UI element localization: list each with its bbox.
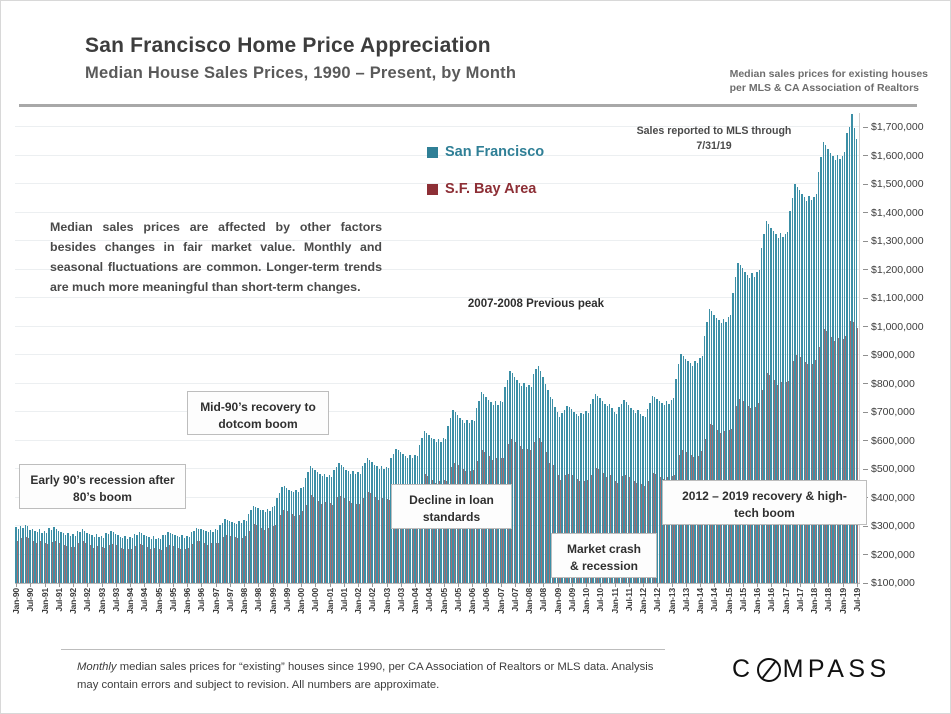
bar-san-francisco [227, 520, 228, 583]
bar-san-francisco [364, 463, 365, 583]
bar-san-francisco [341, 465, 342, 583]
bar-san-francisco [272, 507, 273, 583]
bar-san-francisco [117, 535, 118, 583]
bar-san-francisco [103, 538, 104, 583]
bar-san-francisco [98, 537, 99, 583]
bar-san-francisco [174, 535, 175, 583]
bar-san-francisco [702, 356, 703, 583]
logo-slashed-o-icon [757, 658, 781, 682]
bar-san-francisco [388, 468, 389, 583]
bar-san-francisco [37, 532, 38, 583]
bar-san-francisco [186, 536, 187, 583]
bar-san-francisco [789, 211, 790, 583]
bar-san-francisco [281, 487, 282, 583]
bar-san-francisco [141, 533, 142, 583]
bar-san-francisco [72, 534, 73, 583]
callout-2012-2019-recovery: 2012 – 2019 recovery & high-tech boom [662, 480, 867, 525]
bar-san-francisco [189, 537, 190, 583]
bar-san-francisco [343, 467, 344, 583]
y-axis-tick: $1,500,000 [863, 178, 951, 190]
bar-san-francisco [105, 533, 106, 583]
bar-san-francisco [241, 523, 242, 583]
bar-san-francisco [205, 531, 206, 583]
bar-san-francisco [181, 535, 182, 583]
bar-san-francisco [20, 526, 21, 583]
bar-san-francisco [766, 221, 767, 583]
bar-san-francisco [709, 309, 710, 583]
bar-san-francisco [58, 531, 59, 583]
bar-san-francisco [89, 534, 90, 583]
bar-san-francisco [314, 470, 315, 583]
bar-san-francisco [84, 531, 85, 583]
bar-san-francisco [540, 371, 541, 583]
x-axis-slot: Jul-19 [856, 586, 858, 642]
bar-san-francisco [167, 532, 168, 583]
callout-2007-2008-peak: 2007-2008 Previous peak [456, 297, 616, 312]
bar-san-francisco [704, 336, 705, 583]
bar-san-francisco [369, 460, 370, 583]
bar-san-francisco [108, 534, 109, 583]
bar-san-francisco [307, 472, 308, 583]
source-note-line2: per MLS & CA Association of Realtors [730, 81, 928, 95]
bar-san-francisco [759, 270, 760, 583]
header-divider [19, 104, 917, 107]
bar-san-francisco [535, 369, 536, 583]
bar-san-francisco [732, 293, 733, 583]
bar-san-francisco [67, 533, 68, 583]
bar-san-francisco [253, 506, 254, 583]
bar-san-francisco [811, 200, 812, 583]
bar-san-francisco [352, 471, 353, 583]
bar-san-francisco [331, 477, 332, 583]
page-subtitle: Median House Sales Prices, 1990 – Presen… [85, 64, 516, 83]
bar-san-francisco [293, 492, 294, 583]
bar-san-francisco [509, 371, 510, 583]
bar-san-francisco [787, 232, 788, 583]
y-axis-tick: $400,000 [863, 492, 951, 504]
y-axis-tick: $200,000 [863, 549, 951, 561]
bar-san-francisco [139, 532, 140, 583]
bar-san-francisco [780, 233, 781, 583]
bar-san-francisco [82, 529, 83, 583]
bar-san-francisco [514, 377, 515, 584]
footer-note: Monthly median sales prices for “existin… [77, 658, 677, 694]
bar-san-francisco [694, 361, 695, 583]
bar-san-francisco [685, 359, 686, 583]
bar-san-francisco [744, 272, 745, 583]
bar-san-francisco [236, 524, 237, 583]
bar-san-francisco [255, 507, 256, 583]
bar-san-francisco [160, 539, 161, 583]
bar-san-francisco [806, 201, 807, 583]
bar-san-francisco [713, 315, 714, 583]
y-axis-tick: $1,000,000 [863, 321, 951, 333]
bar-san-francisco [749, 278, 750, 583]
bar-san-francisco [754, 277, 755, 583]
bar-san-francisco [742, 268, 743, 583]
bar-san-francisco [692, 366, 693, 583]
bar-san-francisco [274, 506, 275, 583]
bar-san-francisco [215, 529, 216, 583]
bar-san-francisco [18, 529, 19, 583]
bar-san-francisco [687, 361, 688, 583]
bar-san-francisco [193, 531, 194, 583]
bar-san-francisco [75, 536, 76, 583]
bar-san-francisco [336, 467, 337, 583]
source-note: Median sales prices for existing houses … [730, 67, 928, 95]
bar-san-francisco [357, 472, 358, 583]
bar-san-francisco [338, 463, 339, 583]
bar-san-francisco [196, 528, 197, 583]
bar-san-francisco [110, 531, 111, 583]
bar-san-francisco [48, 528, 49, 583]
bar-san-francisco [65, 535, 66, 583]
callout-decline-loan-standards: Decline in loan standards [391, 484, 512, 529]
legend-swatch-san-francisco [427, 147, 438, 158]
bar-san-francisco [792, 198, 793, 583]
footer-note-emphasis: Monthly [77, 661, 117, 673]
chart-page: San Francisco Home Price Appreciation Me… [0, 0, 951, 714]
bar-san-francisco [711, 311, 712, 583]
bar-san-francisco [231, 522, 232, 583]
bar-san-francisco [120, 537, 121, 583]
y-axis-tick: $1,200,000 [863, 264, 951, 276]
bar-san-francisco [208, 532, 209, 583]
bar-san-francisco [721, 323, 722, 583]
bar-san-francisco [545, 384, 546, 583]
bar-san-francisco [267, 509, 268, 583]
bar-san-francisco [96, 534, 97, 583]
bar-san-francisco [177, 536, 178, 583]
bar-san-francisco [542, 377, 543, 583]
bar-san-francisco [191, 532, 192, 583]
bar-san-francisco [737, 263, 738, 583]
bar-san-francisco [248, 514, 249, 583]
bar-san-francisco [284, 486, 285, 583]
bar-san-francisco [716, 318, 717, 583]
bar-san-francisco [768, 224, 769, 583]
bar-san-francisco [203, 530, 204, 583]
bar-san-francisco [319, 474, 320, 583]
bar-san-francisco [329, 475, 330, 583]
callout-mid-90s-recovery: Mid-90’s recovery to dotcom boom [187, 391, 329, 435]
legend-item-sf-bay-area: S.F. Bay Area [427, 181, 544, 197]
bar-san-francisco [348, 471, 349, 583]
bar-san-francisco [127, 539, 128, 583]
bar-san-francisco [312, 468, 313, 583]
bar-san-francisco [184, 538, 185, 583]
bar-san-francisco [507, 380, 508, 583]
callout-early-90s-recession: Early 90’s recession after 80’s boom [19, 464, 186, 509]
bar-san-francisco [355, 474, 356, 583]
bar-san-francisco [362, 466, 363, 583]
bar-san-francisco [519, 383, 520, 583]
bar-san-francisco [310, 466, 311, 583]
bar-san-francisco [229, 521, 230, 583]
bar-san-francisco [262, 510, 263, 583]
legend-label-san-francisco: San Francisco [445, 144, 544, 160]
bar-san-francisco [265, 512, 266, 583]
bar-san-francisco [538, 366, 539, 583]
mls-reporting-note: Sales reported to MLS through 7/31/19 [629, 124, 799, 154]
bar-san-francisco [129, 537, 130, 583]
bar-san-francisco [34, 531, 35, 583]
logo-letters-mpass: MPASS [783, 655, 891, 684]
y-axis-tick: $600,000 [863, 435, 951, 447]
bar-san-francisco [260, 510, 261, 583]
bar-san-francisco [317, 472, 318, 583]
bar-san-francisco [775, 234, 776, 583]
bar-san-francisco [813, 197, 814, 583]
bar-san-francisco [46, 533, 47, 583]
x-axis-line [15, 583, 860, 584]
bar-san-francisco [238, 521, 239, 583]
bar-san-francisco [162, 535, 163, 583]
bar-san-francisco [295, 490, 296, 583]
bar-san-francisco [210, 530, 211, 583]
bar-san-francisco [523, 383, 524, 583]
bar-san-francisco [751, 273, 752, 583]
legend-label-sf-bay-area: S.F. Bay Area [445, 181, 536, 197]
bar-san-francisco [756, 272, 757, 583]
bar-san-francisco [706, 322, 707, 583]
y-axis-tick: $1,700,000 [863, 121, 951, 133]
logo-letter-c: C [732, 655, 755, 684]
bar-san-francisco [151, 539, 152, 583]
bar-san-francisco [678, 364, 679, 583]
bar-san-francisco [77, 531, 78, 583]
bar-san-francisco [155, 539, 156, 583]
bar-san-francisco [680, 354, 681, 583]
y-axis-tick: $1,100,000 [863, 292, 951, 304]
y-axis-tick: $1,600,000 [863, 150, 951, 162]
bar-san-francisco [773, 231, 774, 583]
bar-san-francisco [212, 532, 213, 583]
bar-san-francisco [51, 530, 52, 583]
bar-san-francisco [533, 374, 534, 583]
methodology-note: Median sales prices are affected by othe… [50, 217, 382, 297]
bar-san-francisco [683, 356, 684, 583]
bar-san-francisco [250, 510, 251, 583]
bar-san-francisco [15, 527, 16, 583]
footer-divider [61, 649, 665, 650]
bar-san-francisco [379, 469, 380, 584]
bar-san-francisco [39, 529, 40, 583]
bar-san-francisco [200, 529, 201, 583]
bar-san-francisco [383, 469, 384, 583]
y-axis-labels: $1,700,000$1,600,000$1,500,000$1,400,000… [863, 113, 951, 584]
page-title: San Francisco Home Price Appreciation [85, 34, 491, 58]
bar-san-francisco [257, 508, 258, 583]
bar-san-francisco [374, 465, 375, 583]
bar-san-francisco [122, 538, 123, 583]
bar-san-francisco [32, 529, 33, 583]
bar-san-francisco [22, 528, 23, 583]
x-axis-tick-mark [857, 583, 858, 587]
bar-san-francisco [279, 493, 280, 583]
bar-san-francisco [303, 487, 304, 583]
bar-san-francisco [276, 498, 277, 583]
bar-san-francisco [124, 536, 125, 583]
x-axis-labels: Jan-90Jul-90Jan-91Jul-91Jan-92Jul-92Jan-… [15, 586, 860, 642]
bar-san-francisco [132, 538, 133, 583]
bar-san-francisco [269, 511, 270, 583]
bar-san-francisco [804, 197, 805, 583]
bar-san-francisco [770, 228, 771, 583]
bar-san-francisco [367, 458, 368, 583]
bar-san-francisco [345, 470, 346, 583]
y-axis-tick: $300,000 [863, 520, 951, 532]
bar-san-francisco [659, 401, 660, 583]
y-axis-tick: $700,000 [863, 406, 951, 418]
bar-san-francisco [94, 537, 95, 583]
bar-san-francisco [60, 532, 61, 583]
bar-san-francisco [730, 315, 731, 583]
bar-san-francisco [91, 535, 92, 583]
bar-san-francisco [690, 363, 691, 583]
bar-san-francisco [521, 386, 522, 583]
source-note-line1: Median sales prices for existing houses [730, 67, 928, 81]
chart-legend: San Francisco S.F. Bay Area [427, 144, 544, 218]
y-axis-tick: $1,400,000 [863, 207, 951, 219]
bar-san-francisco [747, 275, 748, 583]
bar-san-francisco [172, 534, 173, 583]
y-axis-tick: $500,000 [863, 463, 951, 475]
bar-san-francisco [146, 536, 147, 583]
bar-san-francisco [70, 536, 71, 583]
bar-san-francisco [324, 474, 325, 583]
bar-san-francisco [56, 529, 57, 583]
bar-san-francisco [113, 532, 114, 583]
bar-san-francisco [136, 535, 137, 583]
bar-san-francisco [547, 390, 548, 583]
bar-san-francisco [41, 533, 42, 583]
bar-san-francisco [381, 466, 382, 583]
bar-san-francisco [243, 520, 244, 583]
bar-san-francisco [723, 319, 724, 583]
bar-san-francisco [725, 322, 726, 583]
bar-san-francisco [350, 474, 351, 583]
bar-san-francisco [134, 534, 135, 583]
bar-san-francisco [360, 474, 361, 583]
bar-san-francisco [785, 234, 786, 583]
bar-san-francisco [219, 525, 220, 583]
bar-san-francisco [288, 490, 289, 583]
bar-san-francisco [246, 521, 247, 583]
bar-san-francisco [512, 373, 513, 583]
bar-san-francisco [516, 380, 517, 583]
legend-item-san-francisco: San Francisco [427, 144, 544, 160]
callout-market-crash: Market crash & recession [551, 533, 657, 578]
y-axis-tick: $1,300,000 [863, 235, 951, 247]
bar-san-francisco [326, 477, 327, 583]
bar-san-francisco [29, 530, 30, 583]
bar-san-francisco [300, 488, 301, 583]
bar-san-francisco [63, 533, 64, 583]
bar-san-francisco [386, 467, 387, 583]
bar-san-francisco [735, 277, 736, 583]
y-axis-tick: $100,000 [863, 577, 951, 589]
legend-swatch-sf-bay-area [427, 184, 438, 195]
y-axis-tick: $800,000 [863, 378, 951, 390]
bar-san-francisco [728, 317, 729, 583]
bar-san-francisco [740, 265, 741, 583]
bar-san-francisco [234, 523, 235, 583]
bar-san-francisco [526, 387, 527, 583]
bar-san-francisco [179, 537, 180, 583]
bar-san-francisco [291, 491, 292, 583]
bar-san-francisco [699, 358, 700, 583]
bar-san-francisco [27, 526, 28, 583]
bar-san-francisco [86, 533, 87, 583]
bar-san-francisco [697, 363, 698, 583]
bar-san-francisco [79, 532, 80, 583]
bar-san-francisco [53, 527, 54, 583]
bar-san-francisco [153, 536, 154, 583]
bar-san-francisco [371, 462, 372, 583]
bar-san-francisco [115, 534, 116, 583]
bar-san-francisco [322, 476, 323, 583]
bar-san-francisco [531, 387, 532, 583]
bar-san-francisco [718, 320, 719, 583]
bar-san-francisco [165, 535, 166, 583]
bar-san-francisco [143, 535, 144, 583]
compass-logo: CMPASS [732, 655, 891, 684]
bar-san-francisco [198, 529, 199, 583]
bar-san-francisco [217, 530, 218, 583]
bar-san-francisco [778, 238, 779, 583]
bar-san-francisco [44, 531, 45, 583]
bar-san-francisco [528, 385, 529, 583]
bar-san-francisco [305, 478, 306, 583]
bar-san-francisco [224, 519, 225, 583]
bar-san-francisco [376, 466, 377, 583]
x-axis-tick-label: Jul-19 [852, 588, 862, 612]
bar-san-francisco [222, 523, 223, 583]
bar-san-francisco [286, 488, 287, 583]
bar-san-francisco [170, 533, 171, 583]
bar-san-francisco [761, 248, 762, 583]
bar-san-francisco [782, 237, 783, 583]
bar-san-francisco [101, 536, 102, 583]
bar-san-francisco [763, 234, 764, 583]
y-axis-tick: $900,000 [863, 349, 951, 361]
bar-san-francisco [333, 470, 334, 583]
bar-san-francisco [158, 538, 159, 583]
bar-san-francisco [148, 537, 149, 583]
bar-san-francisco [25, 525, 26, 583]
footer-note-rest: median sales prices for “existing” house… [77, 661, 653, 691]
bar-san-francisco [298, 492, 299, 583]
